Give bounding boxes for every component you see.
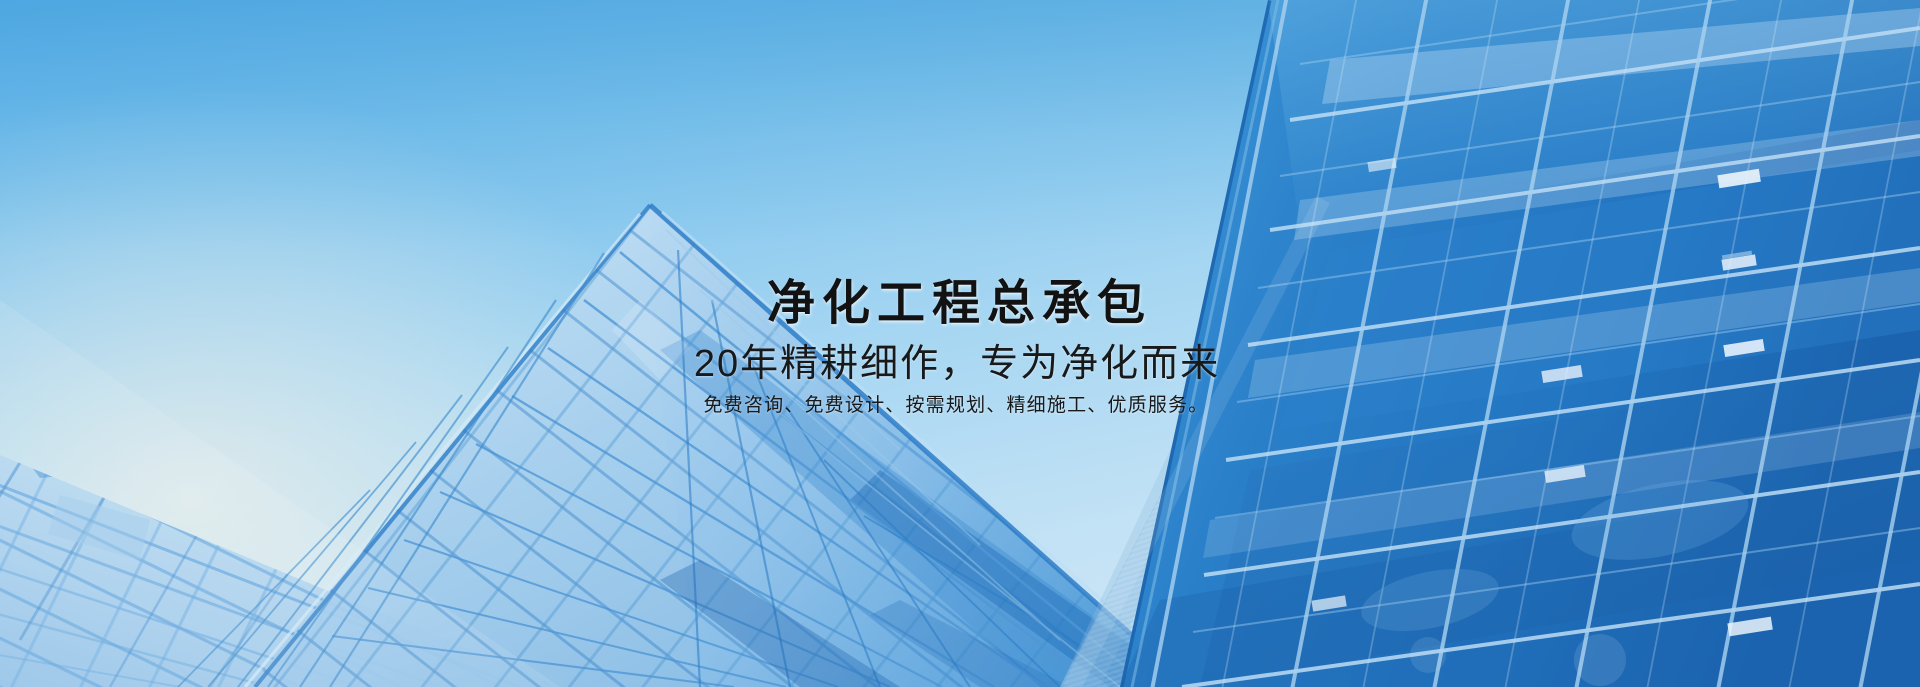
hero-copy-block: 净化工程总承包 20年精耕细作，专为净化而来 免费咨询、免费设计、按需规划、精细… bbox=[0, 276, 1920, 419]
page-title: 净化工程总承包 bbox=[0, 276, 1916, 333]
hero-banner: 净化工程总承包 20年精耕细作，专为净化而来 免费咨询、免费设计、按需规划、精细… bbox=[0, 0, 1920, 687]
hero-tagline: 免费咨询、免费设计、按需规划、精细施工、优质服务。 bbox=[0, 394, 1916, 419]
hero-subheadline: 20年精耕细作，专为净化而来 bbox=[0, 342, 1916, 388]
